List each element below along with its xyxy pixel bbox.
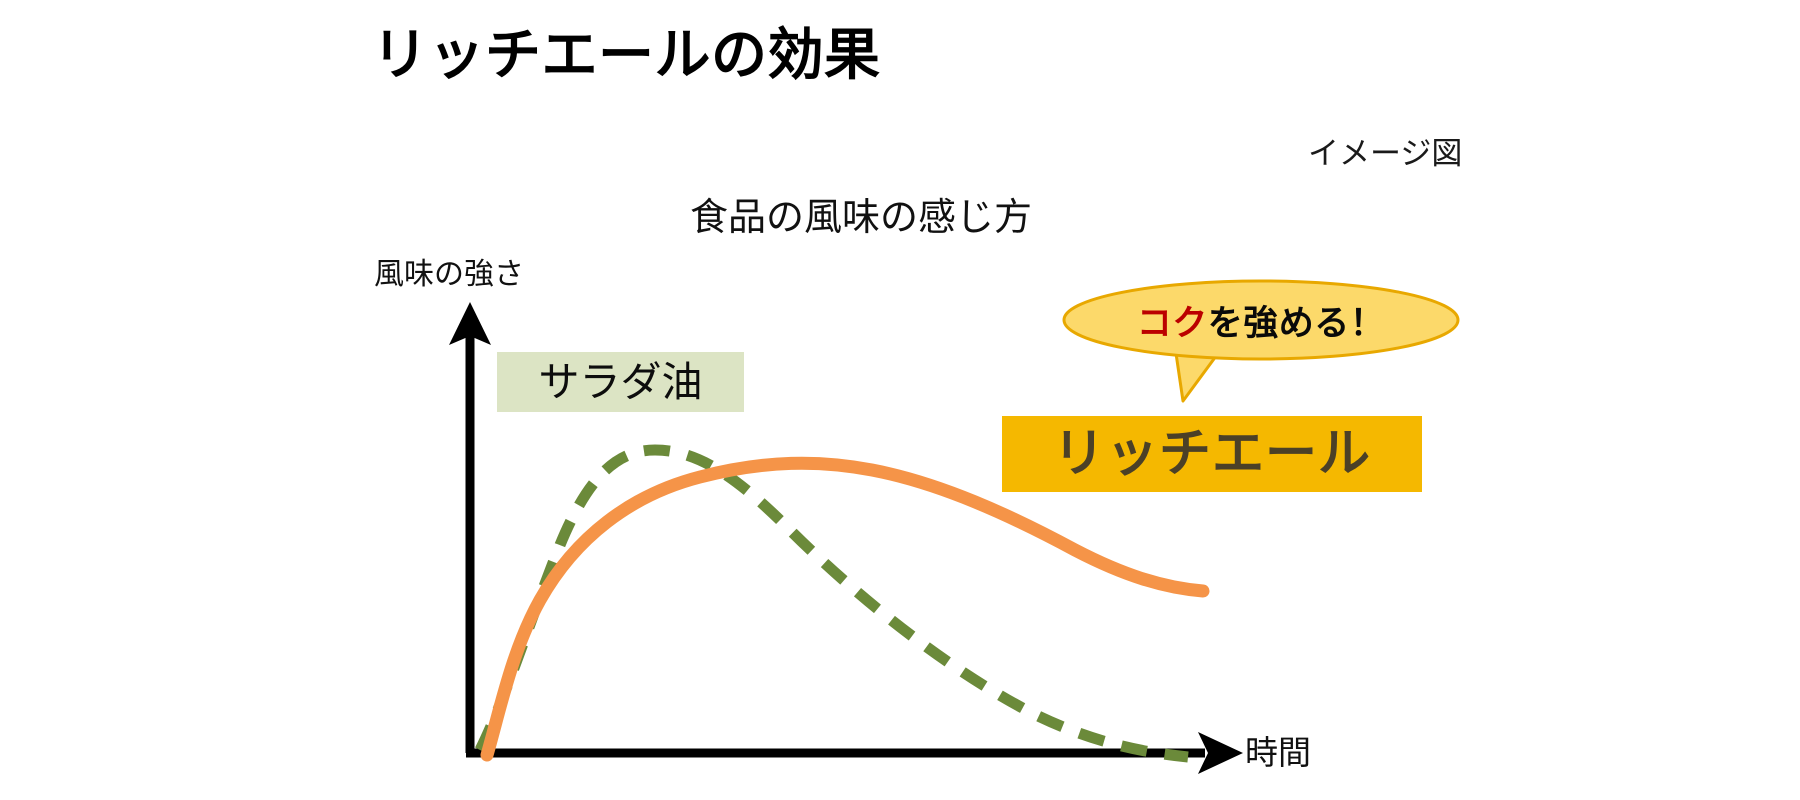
speech-bubble-text: コクを強める！ (1063, 281, 1459, 359)
callout-speech-bubble[interactable]: コクを強める！ (1063, 281, 1459, 359)
speech-bubble-rest-text: を強める！ (1208, 295, 1386, 346)
x-axis-label: 時間 (1245, 726, 1311, 774)
x-axis (466, 732, 1243, 774)
series-line-richale (487, 463, 1203, 755)
slide-canvas: リッチエールの効果 イメージ図 食品の風味の感じ方 風味の強さ 時間 サラダ油 … (0, 0, 1800, 800)
chart-plot-area (0, 0, 1800, 800)
image-disclaimer-note: イメージ図 (1308, 128, 1462, 173)
y-axis-label: 風味の強さ (374, 249, 524, 293)
legend-chip-richale[interactable]: リッチエール (1002, 416, 1422, 492)
y-axis (449, 302, 491, 753)
chart-title: 食品の風味の感じ方 (690, 186, 1032, 241)
legend-label-salad-oil: サラダ油 (539, 362, 703, 403)
series-line-salad-oil (480, 450, 1188, 757)
legend-label-richale: リッチエール (1053, 428, 1371, 480)
speech-bubble-accent-text: コク (1137, 295, 1208, 346)
legend-chip-salad-oil[interactable]: サラダ油 (497, 352, 744, 412)
page-title: リッチエールの効果 (372, 20, 881, 90)
